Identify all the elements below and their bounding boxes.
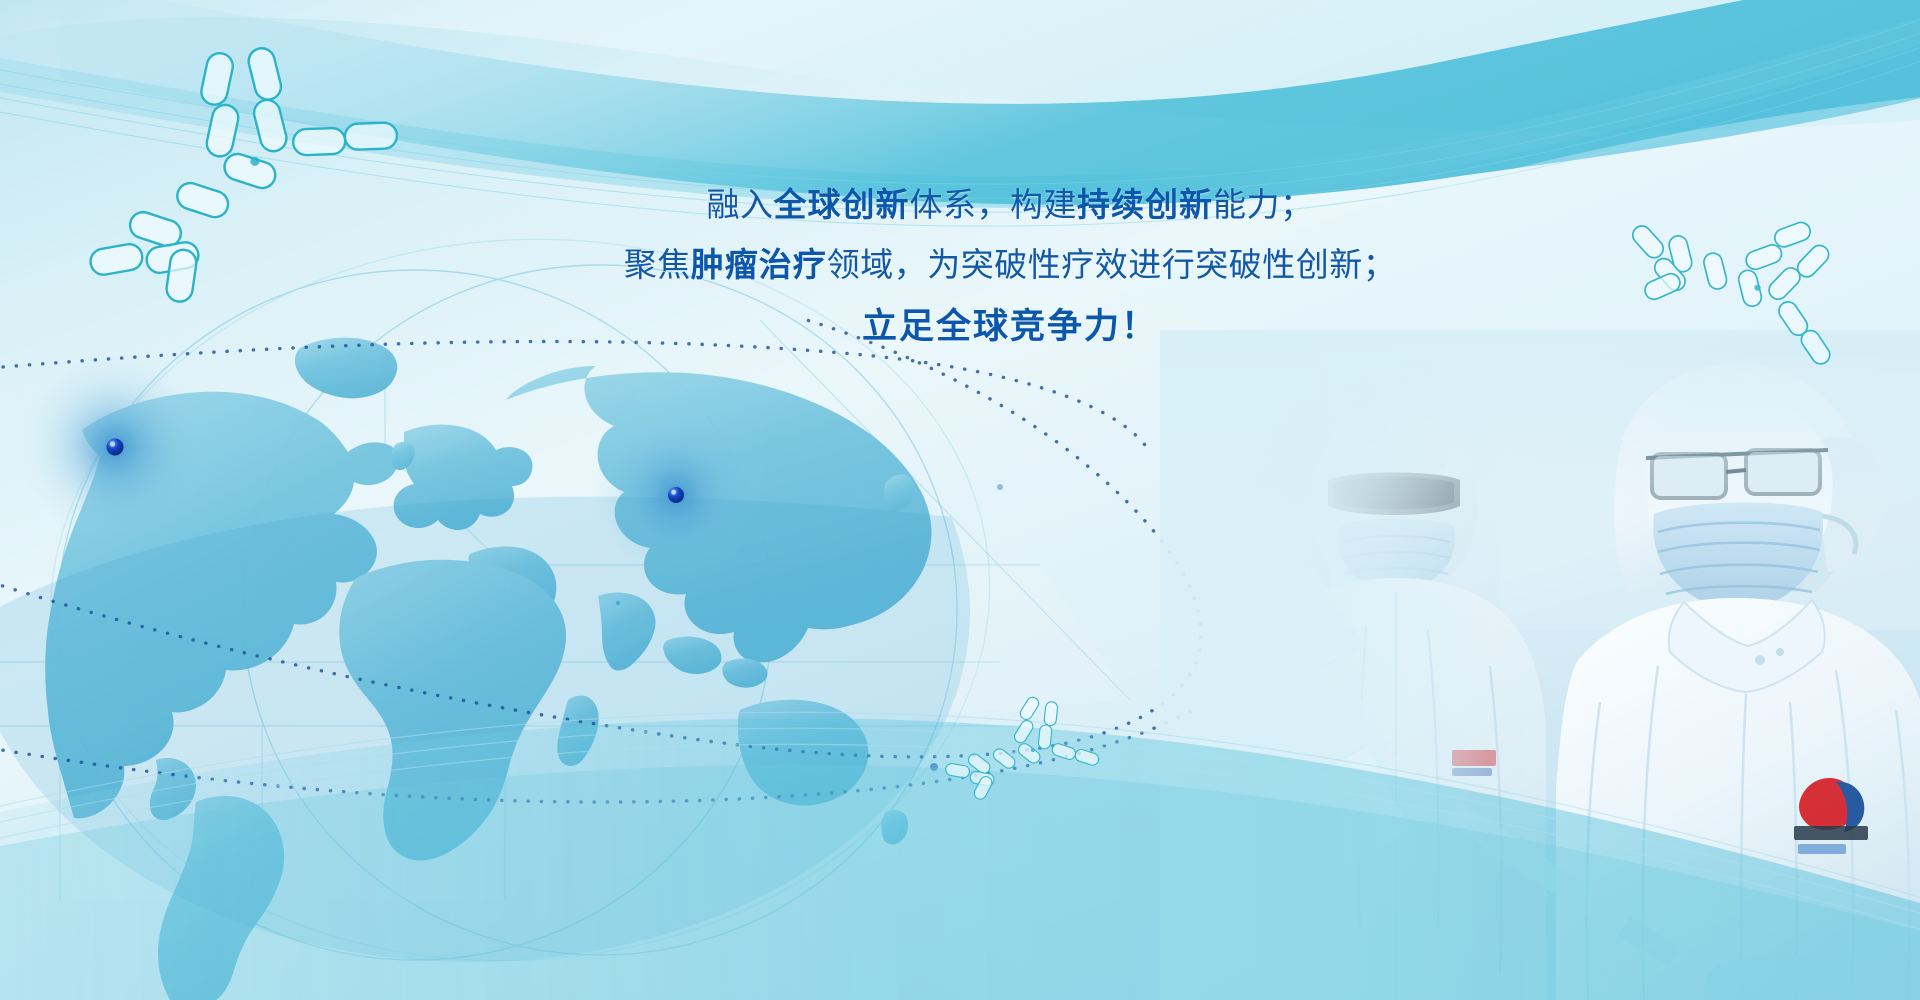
headline-l1-p4: 持续创新 (1077, 186, 1213, 223)
antibody-icon-right (1608, 142, 1883, 426)
banner-root: 融入全球创新体系，构建持续创新能力； 聚焦肿瘤治疗领域，为突破性疗效进行突破性创… (0, 0, 1920, 1000)
headline-l1-p3: 体系，构建 (910, 186, 1078, 223)
headline-l1-p1: 融入 (707, 186, 774, 223)
headline-line-3: 立足全球竞争力！ (560, 300, 1460, 353)
headline-line-2: 聚焦肿瘤治疗领域，为突破性疗效进行突破性创新； (560, 240, 1460, 290)
antibody-icon-center-bottom (940, 679, 1110, 826)
headline-block: 融入全球创新体系，构建持续创新能力； 聚焦肿瘤治疗领域，为突破性疗效进行突破性创… (560, 180, 1460, 364)
antibody-icons-layer (0, 0, 1920, 1000)
headline-l2-p2: 肿瘤治疗 (691, 246, 827, 283)
antibody-icon-top-left (69, 32, 413, 313)
headline-line-1: 融入全球创新体系，构建持续创新能力； (560, 180, 1460, 230)
headline-l1-p5: 能力； (1213, 186, 1314, 223)
headline-l1-p2: 全球创新 (774, 186, 910, 223)
headline-l2-p3: 领域，为突破性疗效进行突破性创新； (827, 246, 1397, 283)
headline-l2-p1: 聚焦 (624, 246, 691, 283)
